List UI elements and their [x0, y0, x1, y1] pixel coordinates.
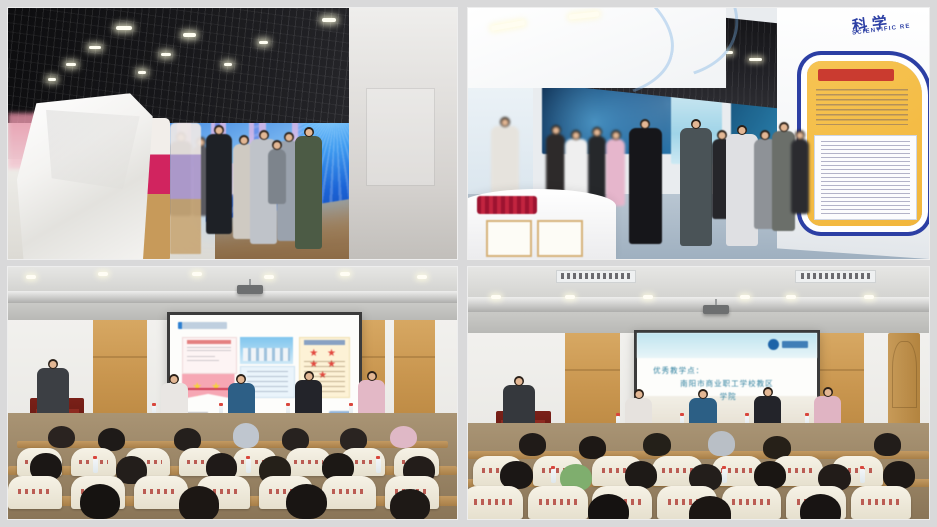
ceiling-light — [322, 18, 336, 22]
slide-article-card — [182, 337, 237, 375]
audience-head — [754, 461, 786, 489]
downlight — [264, 275, 274, 279]
visitor — [606, 139, 624, 207]
ceiling-light — [749, 58, 762, 61]
audience-head — [708, 431, 736, 456]
audience-desk — [17, 441, 448, 449]
ceiling-light — [183, 33, 196, 37]
audience-head — [286, 484, 326, 519]
audience-head — [643, 433, 671, 456]
audience-head — [179, 486, 219, 519]
audience-head — [874, 433, 902, 456]
information-board — [807, 61, 922, 227]
water-bottle — [376, 459, 381, 473]
ceiling-light — [89, 46, 101, 49]
downlight — [340, 272, 350, 276]
rose-arrangement — [477, 196, 537, 214]
downlight — [643, 295, 653, 299]
audience-head — [80, 484, 120, 519]
water-bottle — [722, 469, 727, 483]
ceiling-light — [224, 63, 232, 66]
visitor — [295, 136, 322, 249]
audience-seat — [528, 486, 588, 519]
right-wall — [349, 8, 457, 259]
audience-seat — [322, 476, 376, 509]
downlight — [98, 272, 108, 276]
photo-bottom-left: ★ ★ ★ ★ ★ ★ ★ ★ ★ ★ — [8, 267, 457, 519]
audience-head — [500, 461, 532, 489]
water-bottle — [93, 459, 98, 473]
ceiling-projector — [237, 285, 263, 294]
photo-top-left — [8, 8, 457, 259]
water-bottle — [551, 469, 556, 483]
slide-line-1: 优秀教学点： — [653, 365, 704, 376]
downlight — [491, 295, 501, 299]
ceiling-projector — [703, 305, 729, 314]
certificate — [486, 220, 531, 257]
projection-screen: ★ ★ ★ ★ ★ ★ ★ ★ ★ ★ — [167, 312, 362, 424]
slide-line-2: 南阳市商业职工学校教区 — [680, 378, 774, 389]
audience-seat — [8, 476, 62, 509]
audience-head — [883, 461, 915, 489]
audience-head — [519, 433, 547, 456]
visitor — [629, 128, 661, 243]
ceiling-light — [259, 41, 268, 44]
audience-head — [390, 489, 430, 519]
visitor — [680, 128, 712, 246]
audience-head — [233, 423, 260, 448]
slide-logo — [768, 339, 808, 350]
audience-seat — [851, 486, 911, 519]
downlight — [864, 295, 874, 299]
audience-head — [625, 461, 657, 489]
collage-cell-top-left — [0, 0, 463, 263]
slide-header — [178, 322, 227, 329]
collage-cell-bottom-right: 优秀教学点： 南阳市商业职工学校教区 学院 — [463, 263, 937, 527]
ceiling-light — [116, 26, 132, 30]
visitor — [791, 139, 809, 214]
photo-bottom-right: 优秀教学点： 南阳市商业职工学校教区 学院 — [468, 267, 929, 519]
banner-right — [795, 270, 875, 283]
water-bottle — [860, 469, 865, 483]
ceiling-light — [66, 63, 76, 66]
collage-cell-bottom-left: ★ ★ ★ ★ ★ ★ ★ ★ ★ ★ — [0, 263, 463, 527]
slide-red-banner: ★ ★ ★ ★ ★ — [182, 374, 235, 399]
photo-collage: 科学 SCIENTIFIC RE — [0, 0, 937, 527]
downlight — [26, 275, 36, 279]
visitor — [206, 134, 233, 234]
banner-left — [556, 270, 636, 283]
ceiling-light — [161, 53, 171, 56]
visitor — [268, 149, 286, 204]
projection-screen: 优秀教学点： 南阳市商业职工学校教区 学院 — [634, 330, 820, 432]
slide-group-photo — [240, 337, 293, 365]
ceiling-light — [138, 71, 146, 74]
dressed-mannequin — [170, 123, 201, 254]
downlight — [565, 295, 575, 299]
downlight — [192, 272, 202, 276]
downlight — [417, 275, 427, 279]
audience-head — [48, 426, 75, 449]
slide-line-3: 学院 — [720, 391, 737, 402]
audience-head — [390, 426, 417, 449]
downlight — [740, 295, 750, 299]
certificate — [537, 220, 582, 257]
visitor — [588, 136, 606, 201]
collage-cell-top-right: 科学 SCIENTIFIC RE — [463, 0, 937, 263]
audience-head — [579, 436, 607, 459]
water-bottle — [246, 459, 251, 473]
podium-speaker — [37, 368, 68, 418]
ceiling-light — [48, 78, 56, 81]
downlight — [786, 295, 796, 299]
photo-top-right: 科学 SCIENTIFIC RE — [468, 8, 929, 259]
audience-seat — [468, 486, 523, 519]
